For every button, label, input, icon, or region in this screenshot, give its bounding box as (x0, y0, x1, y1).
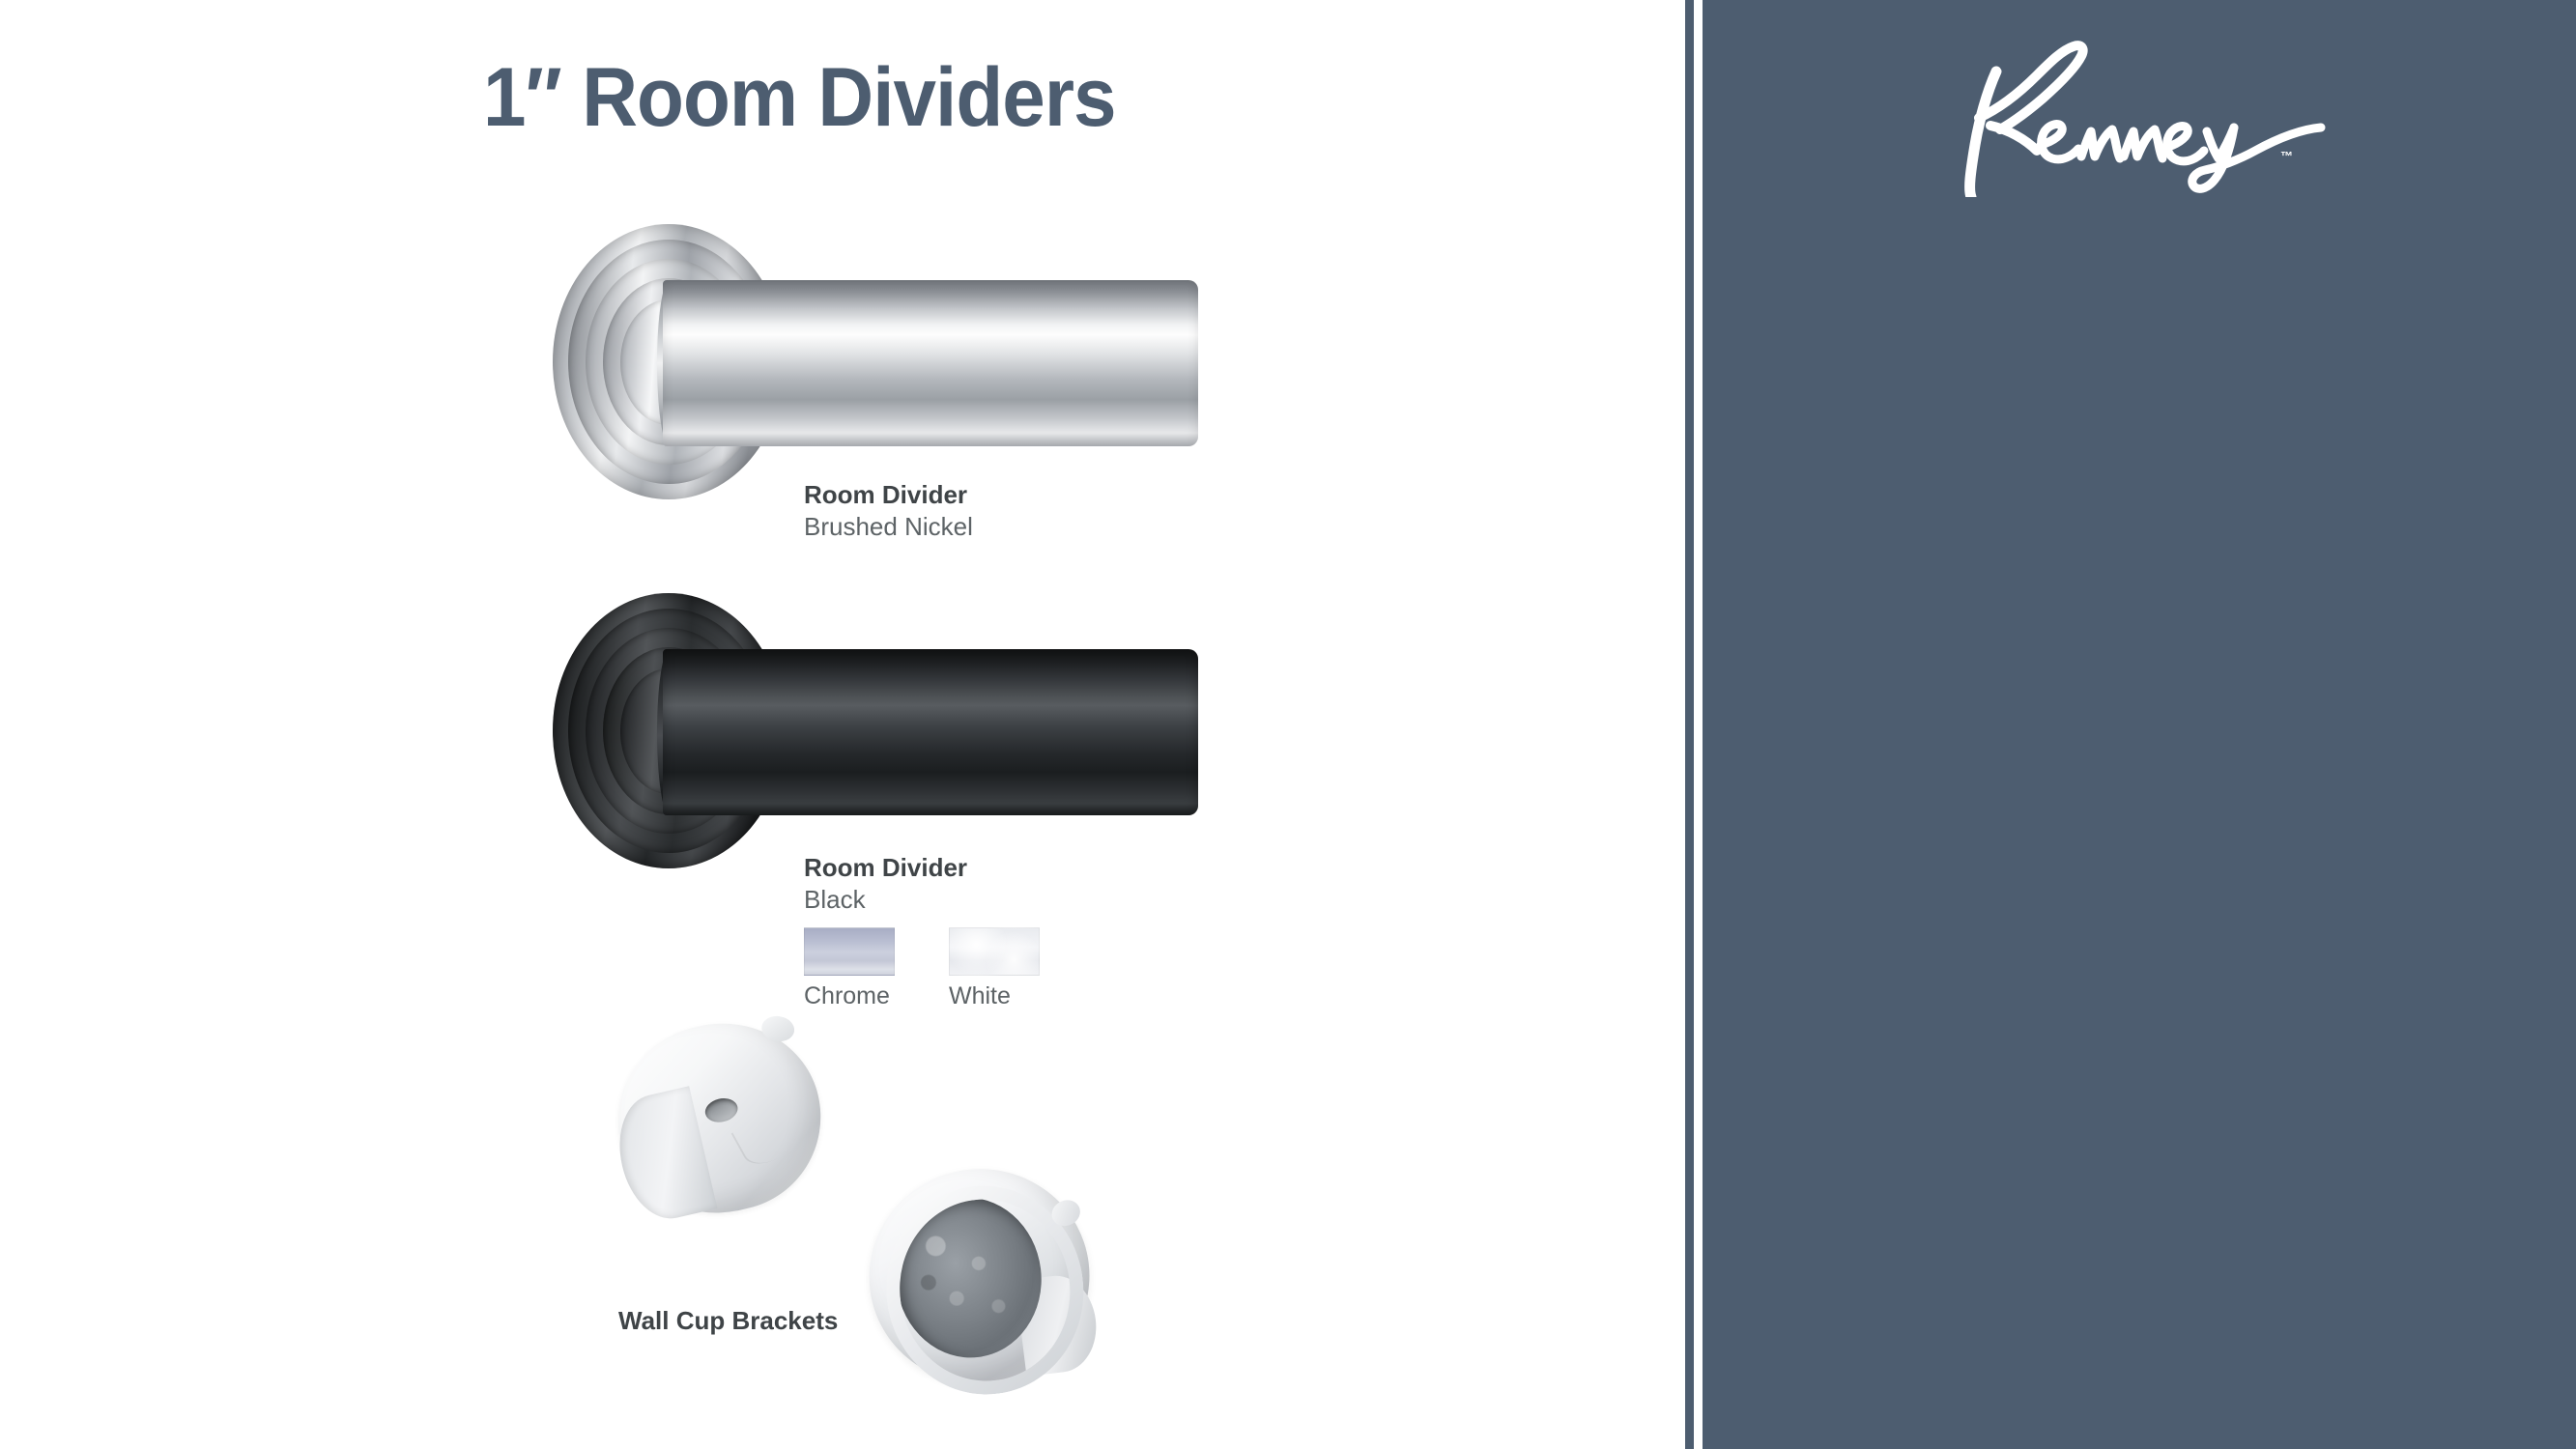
product-image-wall-cup-brackets (580, 1014, 1121, 1430)
panel-divider-rule (1685, 0, 1694, 1449)
wall-cup-bracket-front (599, 1004, 841, 1237)
page-title: 1″ Room Dividers (483, 50, 1116, 146)
swatch-chrome[interactable]: Chrome (804, 927, 895, 1010)
product-name: Room Divider (804, 852, 967, 884)
swatch-label: White (949, 982, 1040, 1010)
caption-black: Room Divider Black (804, 852, 967, 917)
product-image-room-divider-black (541, 593, 1198, 873)
swatch-chip-white (949, 927, 1040, 976)
swatch-label: Chrome (804, 982, 895, 1010)
kenney-logo: ™ (1936, 33, 2342, 197)
right-info-panel: ™ FOR OVER 100 YEARS For use with light … (1703, 0, 2576, 1449)
rod-tube-nickel (663, 280, 1198, 446)
caption-brushed-nickel: Room Divider Brushed Nickel (804, 479, 973, 544)
rod-tube-black (663, 649, 1198, 815)
swatch-chip-chrome (804, 927, 895, 976)
product-finish: Black (804, 884, 967, 916)
caption-wall-cup-brackets: Wall Cup Brackets (618, 1306, 838, 1336)
product-image-room-divider-brushed-nickel (541, 224, 1198, 504)
left-product-panel: 1″ Room Dividers Room Divider Brushed Ni… (0, 0, 1685, 1449)
product-finish: Brushed Nickel (804, 511, 973, 543)
swatch-white[interactable]: White (949, 927, 1040, 1010)
wall-cup-bracket-open (857, 1156, 1104, 1404)
svg-text:™: ™ (2280, 149, 2293, 163)
product-name: Room Divider (804, 479, 973, 511)
